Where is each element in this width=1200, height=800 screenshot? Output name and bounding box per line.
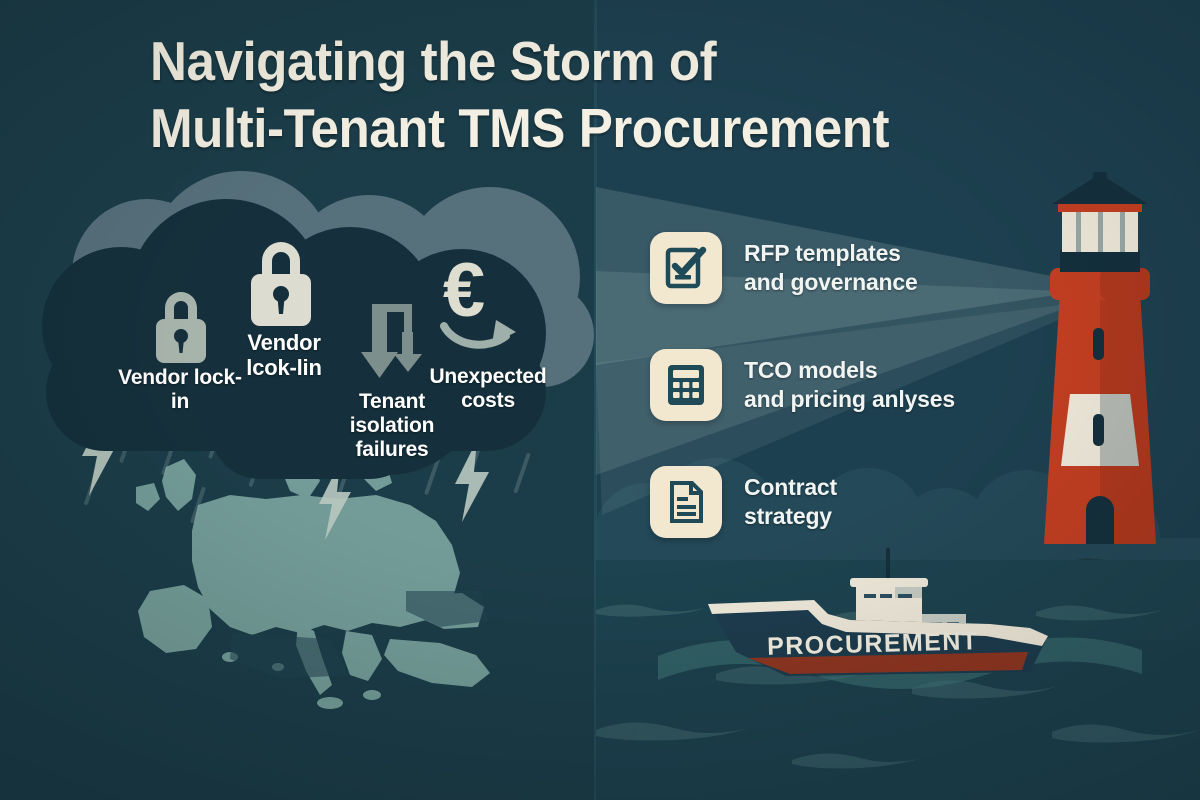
page-title-line1: Navigating the Storm of bbox=[150, 28, 1006, 95]
cargo-ship-icon: PROCUREMENT bbox=[690, 540, 1080, 720]
risk-label-line2: costs bbox=[461, 389, 515, 412]
padlock-icon bbox=[240, 232, 322, 330]
risk-label-unexpected-costs: Unexpected costs bbox=[418, 365, 558, 413]
risk-label-vendor-lockin-duplicate: Vendor lcok-lin bbox=[222, 330, 346, 380]
risk-label-line1: Tenant bbox=[359, 390, 425, 413]
risk-label-line1: Unexpected bbox=[429, 365, 546, 388]
risk-label-line1: Vendor bbox=[118, 366, 188, 389]
feature-label-line1: TCO models bbox=[744, 356, 955, 385]
feature-label-line2: and pricing anlyses bbox=[744, 385, 955, 414]
feature-label-line1: Contract bbox=[744, 473, 837, 502]
feature-label-line2: and governance bbox=[744, 268, 918, 297]
page-title-line2: Multi-Tenant TMS Procurement bbox=[150, 95, 1006, 162]
calculator-icon bbox=[650, 349, 722, 421]
document-icon bbox=[650, 466, 722, 538]
feature-label: RFP templates and governance bbox=[744, 239, 918, 298]
risk-label-line2: isolation bbox=[350, 414, 435, 437]
risk-label-line2: lcok-lin bbox=[246, 355, 321, 380]
risk-label-line1: Vendor bbox=[247, 330, 320, 355]
checklist-icon bbox=[650, 232, 722, 304]
svg-text:€: € bbox=[443, 254, 485, 333]
risk-label-line3: failures bbox=[355, 438, 428, 461]
euro-cost-icon: € bbox=[424, 254, 534, 364]
feature-label: TCO models and pricing anlyses bbox=[744, 356, 955, 415]
padlock-icon bbox=[146, 283, 216, 367]
feature-label: Contract strategy bbox=[744, 473, 837, 532]
infographic-canvas: Vendor lock-in Vendor lcok-lin Tenant is… bbox=[0, 0, 1200, 800]
page-title: Navigating the Storm of Multi-Tenant TMS… bbox=[150, 28, 1006, 162]
feature-label-line1: RFP templates bbox=[744, 239, 918, 268]
lighthouse-icon bbox=[1000, 172, 1200, 572]
ship-name-label: PROCUREMENT bbox=[767, 627, 979, 661]
feature-label-line2: strategy bbox=[744, 502, 837, 531]
